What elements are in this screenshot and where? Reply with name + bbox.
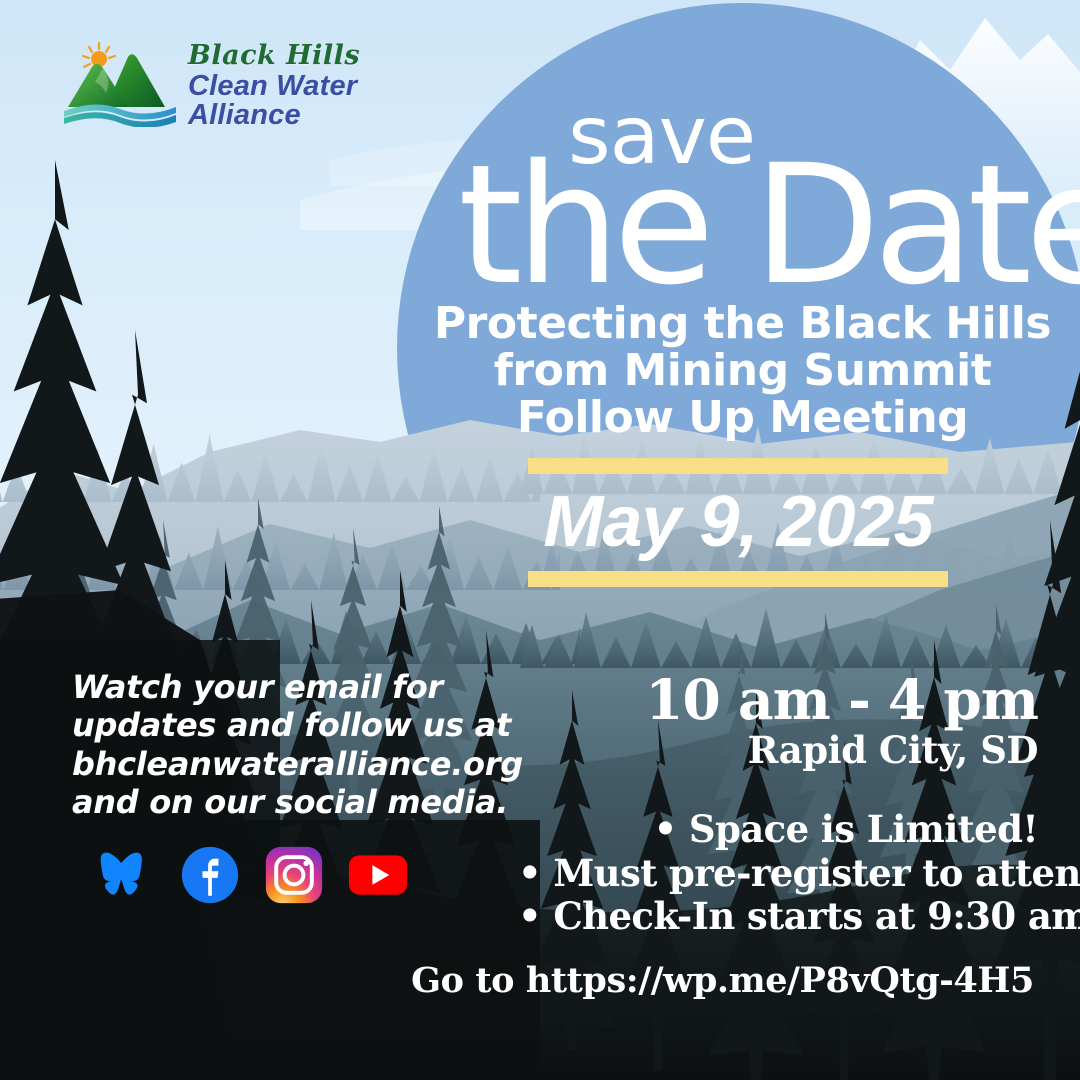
event-time-block: 10 am - 4 pm Rapid City, SD xyxy=(518,672,1038,771)
date-rule-top xyxy=(528,458,948,474)
logo-wordmark: Black Hills Clean Water Alliance xyxy=(188,38,462,130)
save-the-date-poster: Black Hills Clean Water Alliance save th… xyxy=(0,0,1080,1080)
note-line-2: updates and follow us at xyxy=(72,706,472,744)
note-line-3: bhcleanwateralliance.org xyxy=(72,745,472,783)
event-details-list: • Space is Limited! • Must pre-register … xyxy=(518,808,1038,939)
event-subtitle: Protecting the Black Hills from Mining S… xyxy=(415,300,1070,441)
instagram-icon[interactable] xyxy=(264,845,324,905)
bluesky-icon[interactable] xyxy=(96,845,156,905)
headline-group: save the Date xyxy=(430,95,1070,295)
subtitle-line-1: Protecting the Black Hills xyxy=(415,300,1070,347)
mountains-sun-water-logo-icon xyxy=(62,41,180,127)
event-date: May 9, 2025 xyxy=(528,474,948,571)
registration-link[interactable]: Go to https://wp.me/P8vQtg-4H5 xyxy=(411,960,1034,1001)
subtitle-line-2: from Mining Summit xyxy=(415,347,1070,394)
date-rule-bottom xyxy=(528,571,948,587)
event-date-block: May 9, 2025 xyxy=(528,458,948,587)
social-links xyxy=(96,845,408,905)
facebook-icon[interactable] xyxy=(180,845,240,905)
subtitle-line-3: Follow Up Meeting xyxy=(415,394,1070,441)
logo-line-1: Black Hills xyxy=(188,42,462,69)
note-line-1: Watch your email for xyxy=(72,668,472,706)
follow-us-note: Watch your email for updates and follow … xyxy=(72,668,472,822)
logo-line-2: Clean Water Alliance xyxy=(188,72,462,130)
organization-logo[interactable]: Black Hills Clean Water Alliance xyxy=(62,38,462,130)
youtube-icon[interactable] xyxy=(348,845,408,905)
list-item: • Must pre-register to attend xyxy=(518,852,1038,896)
event-city: Rapid City, SD xyxy=(518,730,1038,771)
event-time: 10 am - 4 pm xyxy=(518,672,1038,728)
list-item: • Check-In starts at 9:30 am xyxy=(518,895,1038,939)
headline-the-date: the Date xyxy=(458,143,1080,308)
list-item: • Space is Limited! xyxy=(518,808,1038,852)
note-line-4: and on our social media. xyxy=(72,783,472,821)
